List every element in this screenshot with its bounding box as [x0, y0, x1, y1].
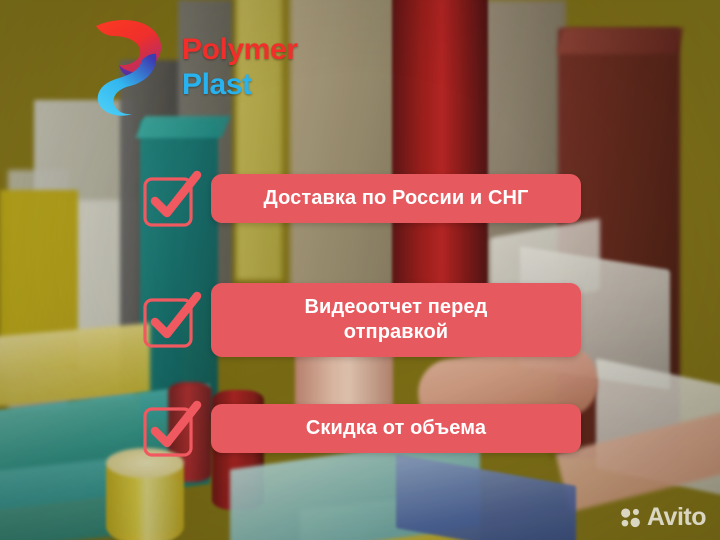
avito-dots-icon — [620, 507, 642, 529]
feature-badge-label: Доставка по России и СНГ — [211, 174, 581, 223]
feature-badge-label: Скидка от объема — [211, 404, 581, 453]
checkbox-checked-icon — [144, 405, 192, 453]
brand-wordmark: Polymer Plast — [182, 35, 298, 100]
promo-banner: Polymer Plast Доставка по России и СНГ — [0, 0, 720, 540]
feature-row: Видеоотчет перед отправкой — [144, 283, 581, 357]
avito-wordmark: Avito — [647, 505, 706, 530]
feature-badge-label: Видеоотчет перед отправкой — [211, 283, 581, 357]
checkbox-checked-icon — [144, 296, 192, 344]
checkbox-checked-icon — [144, 175, 192, 223]
brand-logo: Polymer Plast — [92, 16, 298, 118]
polymer-ribbon-logo-icon — [92, 16, 168, 118]
brand-name-line1: Polymer — [182, 35, 298, 65]
brand-name-line2: Plast — [182, 70, 298, 100]
feature-row: Скидка от объема — [144, 404, 581, 453]
avito-watermark: Avito — [620, 505, 706, 530]
feature-row: Доставка по России и СНГ — [144, 174, 581, 223]
